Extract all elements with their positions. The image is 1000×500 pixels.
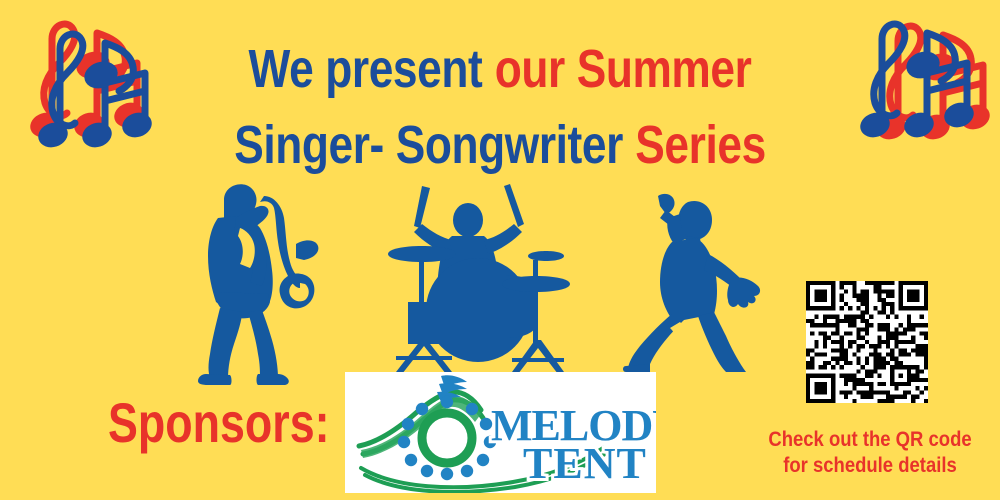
qr-caption: Check out the QR code for schedule detai… xyxy=(760,427,980,480)
singer-icon xyxy=(622,182,772,372)
qr-caption-line-1: Check out the QR code xyxy=(760,427,980,453)
logo-text-tent: TENT xyxy=(523,439,647,488)
headline-line-1: We presentour Summer xyxy=(90,42,910,96)
melody-tent-logo: MELODY MELODY TENT TENT xyxy=(345,372,656,493)
sponsors-label: Sponsors: xyxy=(108,395,330,451)
melody-tent-logo-icon: MELODY MELODY TENT TENT xyxy=(345,372,656,493)
drummer-icon xyxy=(378,180,578,375)
singer-silhouette xyxy=(622,182,772,377)
promo-banner: We presentour Summer Singer- SongwriterS… xyxy=(0,0,1000,500)
drummer-silhouette xyxy=(378,180,578,380)
saxophone-player-silhouette xyxy=(196,182,356,392)
saxophone-player-icon xyxy=(196,182,356,387)
qr-code[interactable] xyxy=(806,281,928,403)
headline-line-2-red: Series xyxy=(635,115,765,175)
headline-line-2: Singer- SongwriterSeries xyxy=(90,118,910,172)
headline-line-1-blue: We present xyxy=(249,39,483,99)
qr-code-icon[interactable] xyxy=(806,281,928,403)
headline-line-2-blue: Singer- Songwriter xyxy=(234,115,623,175)
qr-caption-line-2: for schedule details xyxy=(760,453,980,479)
headline-line-1-red: our Summer xyxy=(495,39,752,99)
